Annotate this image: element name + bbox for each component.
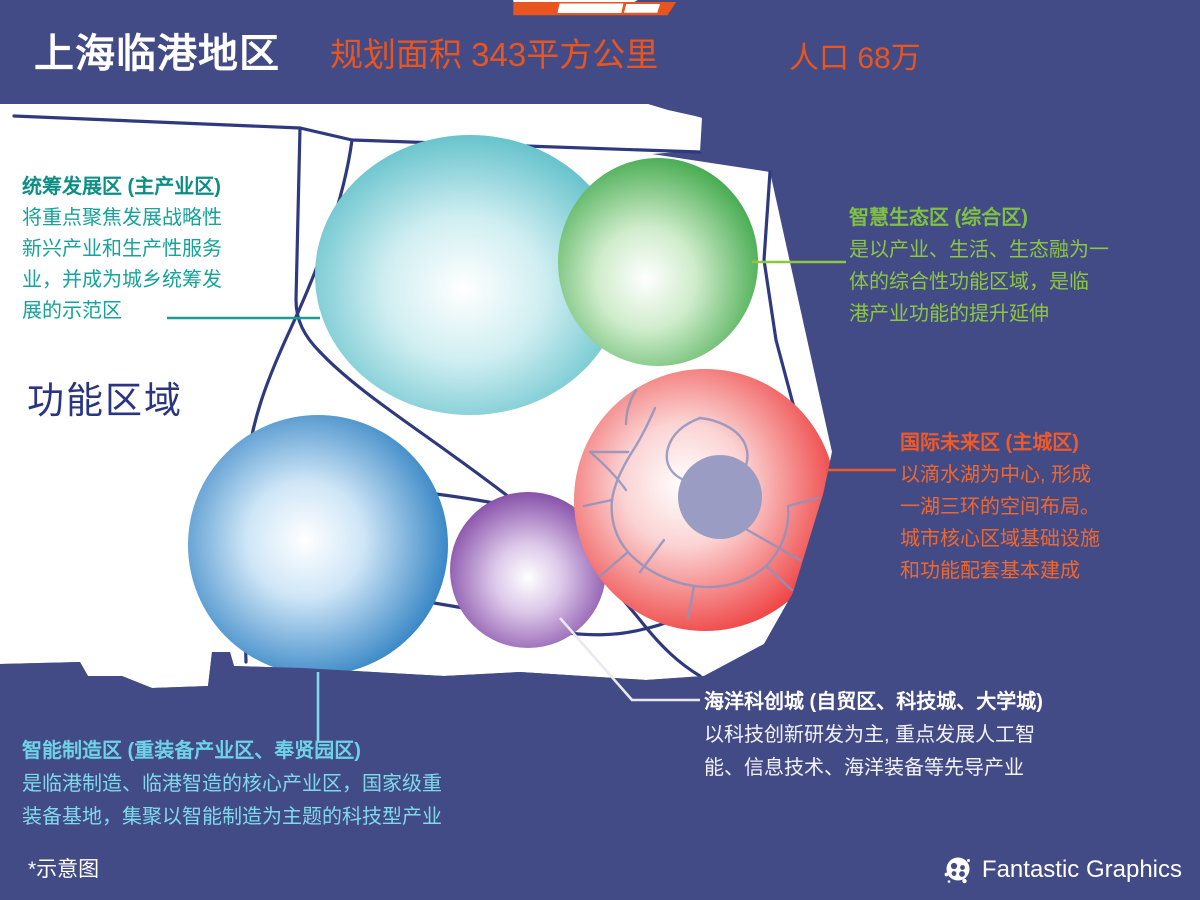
text-line: 新兴产业和生产性服务 — [22, 234, 322, 265]
callout-haiyang: 海洋科创城 (自贸区、科技城、大学城) 以科技创新研发为主, 重点发展人工智 能… — [704, 686, 1200, 785]
callout-guoji-body: 以滴水湖为中心, 形成 一湖三环的空间布局。 城市核心区域基础设施 和功能配套基… — [900, 459, 1200, 587]
text-line: 是临港制造、临港智造的核心产业区，国家级重 — [22, 768, 632, 801]
callout-haiyang-title: 海洋科创城 (自贸区、科技城、大学城) — [704, 686, 1200, 719]
text-line: 以科技创新研发为主, 重点发展人工智 — [704, 719, 1200, 752]
connector-haiyang — [560, 618, 700, 700]
header-title: 上海临港地区 — [34, 26, 280, 82]
text-line: 将重点聚焦发展战略性 — [22, 203, 322, 234]
callout-zhihui: 智慧生态区 (综合区) 是以产业、生活、生态融为一 体的综合性功能区域，是临 港… — [849, 202, 1194, 330]
callout-zhihui-body: 是以产业、生活、生态融为一 体的综合性功能区域，是临 港产业功能的提升延伸 — [849, 234, 1194, 330]
callout-guoji: 国际未来区 (主城区) 以滴水湖为中心, 形成 一湖三环的空间布局。 城市核心区… — [900, 427, 1200, 587]
infographic-root: 上海临港地区 规划面积 343平方公里 人口 68万 统筹发展区 (主产业区) … — [0, 0, 1200, 900]
section-label: 功能区域 — [27, 377, 183, 425]
callout-haiyang-body: 以科技创新研发为主, 重点发展人工智 能、信息技术、海洋装备等先导产业 — [704, 719, 1200, 785]
footnote: *示意图 — [28, 856, 99, 884]
callout-zhineng: 智能制造区 (重装备产业区、奉贤园区) 是临港制造、临港智造的核心产业区，国家级… — [22, 735, 632, 834]
brand-mark: Fantastic Graphics — [943, 855, 1182, 885]
text-line: 体的综合性功能区域，是临 — [849, 266, 1194, 298]
header-chip-area: 规划面积 343平方公里 — [330, 28, 658, 82]
callout-zhineng-body: 是临港制造、临港智造的核心产业区，国家级重 装备基地，集聚以智能制造为主题的科技… — [22, 768, 632, 834]
text-line: 能、信息技术、海洋装备等先导产业 — [704, 752, 1200, 785]
text-line: 业，并成为城乡统筹发 — [22, 265, 322, 296]
header-chip-population: 人口 68万 — [789, 34, 921, 84]
callout-tongchou-body: 将重点聚焦发展战略性 新兴产业和生产性服务 业，并成为城乡统筹发 展的示范区 — [22, 203, 322, 327]
callout-tongchou-title: 统筹发展区 (主产业区) — [22, 172, 322, 203]
paw-logo-icon — [943, 855, 973, 885]
text-line: 以滴水湖为中心, 形成 — [900, 459, 1200, 491]
text-line: 城市核心区域基础设施 — [900, 523, 1200, 555]
callout-zhineng-title: 智能制造区 (重装备产业区、奉贤园区) — [22, 735, 632, 768]
brand-name: Fantastic Graphics — [982, 855, 1182, 885]
text-line: 展的示范区 — [22, 296, 322, 327]
text-line: 和功能配套基本建成 — [900, 555, 1200, 587]
text-line: 是以产业、生活、生态融为一 — [849, 234, 1194, 266]
callout-tongchou: 统筹发展区 (主产业区) 将重点聚焦发展战略性 新兴产业和生产性服务 业，并成为… — [22, 172, 322, 327]
callout-zhihui-title: 智慧生态区 (综合区) — [849, 202, 1194, 234]
text-line: 装备基地，集聚以智能制造为主题的科技型产业 — [22, 801, 632, 834]
text-line: 港产业功能的提升延伸 — [849, 298, 1194, 330]
callout-guoji-title: 国际未来区 (主城区) — [900, 427, 1200, 459]
text-line: 一湖三环的空间布局。 — [900, 491, 1200, 523]
